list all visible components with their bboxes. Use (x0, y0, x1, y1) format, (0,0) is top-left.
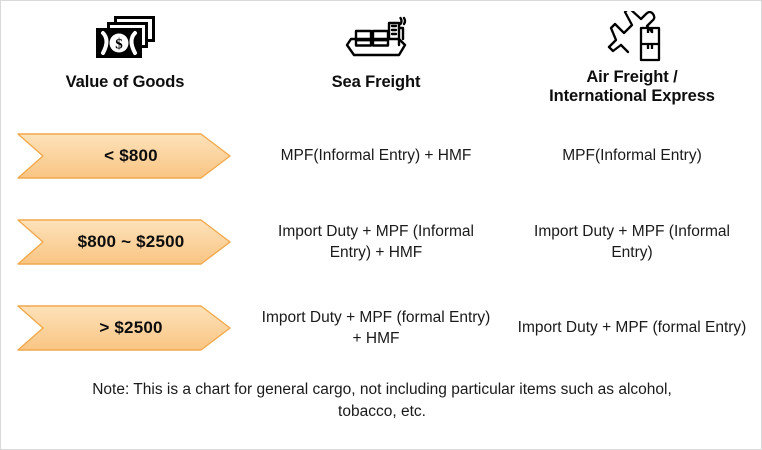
value-band-arrow: $800 ~ $2500 (17, 219, 231, 265)
header-column-sea-freight: Sea Freight (249, 1, 503, 113)
value-band-label: > $2500 (85, 318, 162, 338)
chart-header-row: $ Value of Goods (1, 1, 762, 113)
header-title-value-of-goods: Value of Goods (66, 73, 185, 92)
value-band-cell: < $800 (1, 133, 249, 179)
chart-note: Note: This is a chart for general cargo,… (1, 379, 762, 424)
value-band-label: < $800 (90, 146, 158, 166)
fee-chart-page: $ Value of Goods (0, 0, 762, 450)
air-freight-fee-cell: Import Duty + MPF (Informal Entry) (503, 221, 761, 264)
air-freight-fee-cell: MPF(Informal Entry) (503, 145, 761, 166)
chart-rows: < $800 MPF(Informal Entry) + HMF MPF(Inf… (1, 113, 762, 371)
header-title-air-freight: Air Freight / International Express (549, 68, 715, 107)
air-freight-fee-cell: Import Duty + MPF (formal Entry) (503, 317, 761, 338)
header-column-air-freight: Air Freight / International Express (503, 1, 761, 113)
sea-freight-fee-cell: Import Duty + MPF (formal Entry) + HMF (249, 307, 503, 350)
value-band-cell: $800 ~ $2500 (1, 219, 249, 265)
header-column-value-of-goods: $ Value of Goods (1, 1, 249, 113)
table-row: < $800 MPF(Informal Entry) + HMF MPF(Inf… (1, 113, 762, 199)
sea-freight-fee-cell: Import Duty + MPF (Informal Entry) + HMF (249, 221, 503, 264)
value-band-label: $800 ~ $2500 (64, 232, 185, 252)
table-row: > $2500 Import Duty + MPF (formal Entry)… (1, 285, 762, 371)
cargo-ship-icon (343, 9, 409, 67)
header-title-sea-freight: Sea Freight (332, 73, 421, 92)
value-band-arrow: > $2500 (17, 305, 231, 351)
sea-freight-fee-cell: MPF(Informal Entry) + HMF (249, 145, 503, 166)
money-stack-icon: $ (92, 9, 158, 67)
svg-text:$: $ (115, 37, 123, 53)
value-band-cell: > $2500 (1, 305, 249, 351)
airplane-package-icon (596, 9, 668, 67)
table-row: $800 ~ $2500 Import Duty + MPF (Informal… (1, 199, 762, 285)
value-band-arrow: < $800 (17, 133, 231, 179)
